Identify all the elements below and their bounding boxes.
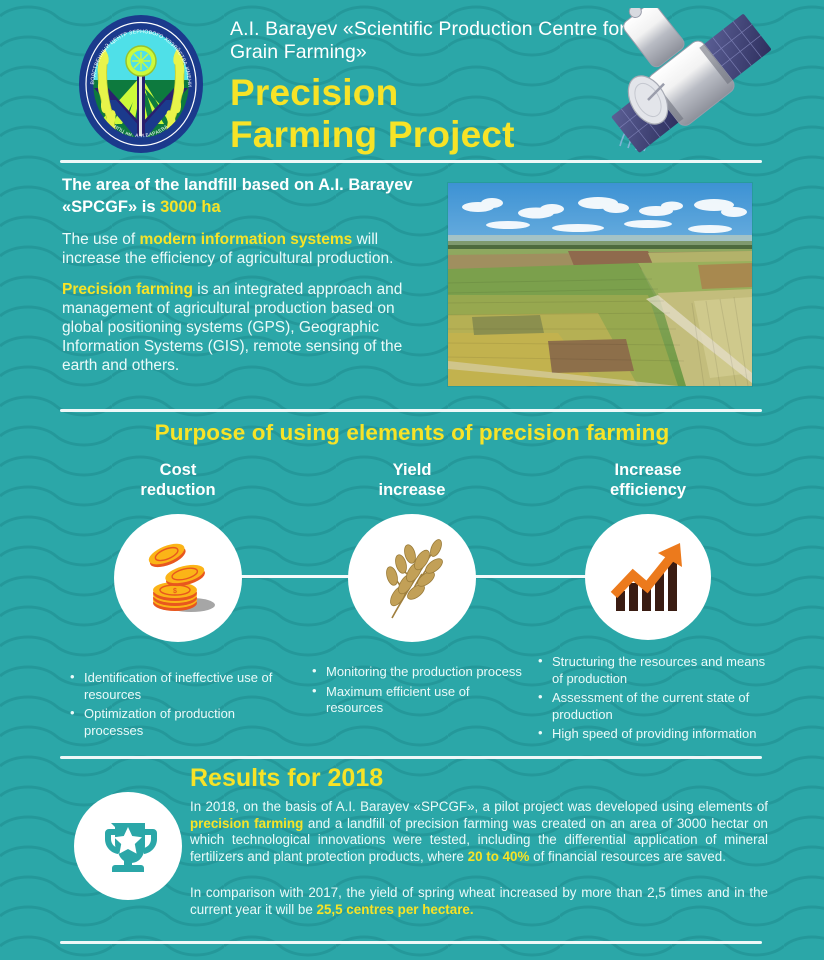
purpose-column-3-bullets: Structuring the resources and means of p… (536, 654, 766, 743)
purpose-column-2-heading-line2: increase (296, 480, 528, 500)
landfill-area-statement: The area of the landfill based on A.I. B… (62, 175, 432, 218)
purpose-column-1-circle: $ (114, 514, 242, 642)
intro-text-block: The area of the landfill based on A.I. B… (62, 175, 432, 375)
results-section-title: Results for 2018 (190, 764, 383, 793)
purpose-column-3-circle (585, 514, 711, 640)
list-item: Structuring the resources and means of p… (536, 654, 766, 687)
list-item: Monitoring the production process (310, 664, 528, 681)
results-p1-e: of financial resources are saved. (529, 849, 726, 864)
header: НАУЧНО-ПРОИЗВОДСТВЕННЫЙ ЦЕНТР ЗЕРНОВОГО … (0, 0, 824, 160)
divider-results (60, 756, 762, 759)
results-p1-a: In 2018, on the basis of A.I. Barayev «S… (190, 799, 768, 814)
intro-p2-highlight: Precision farming (62, 281, 193, 298)
list-item: Optimization of production processes (68, 706, 294, 739)
infographic-poster: НАУЧНО-ПРОИЗВОДСТВЕННЫЙ ЦЕНТР ЗЕРНОВОГО … (0, 0, 824, 960)
list-item: High speed of providing information (536, 726, 766, 743)
page-title-line2: Farming Project (230, 114, 650, 156)
purpose-section-title: Purpose of using elements of precision f… (0, 420, 824, 446)
purpose-column-3-heading: Increase efficiency (530, 460, 766, 500)
list-item: Assessment of the current state of produ… (536, 690, 766, 723)
results-p2-highlight: 25,5 centres per hectare. (317, 902, 474, 917)
results-paragraph-2: In comparison with 2017, the yield of sp… (190, 885, 768, 918)
gold-coins-icon: $ (135, 535, 221, 621)
landfill-area-value: 3000 ha (160, 198, 221, 216)
trophy-star-icon (95, 813, 161, 879)
landfill-area-text: The area of the landfill based on A.I. B… (62, 176, 413, 216)
farm-fields-photo (448, 183, 752, 386)
purpose-column-3-heading-line2: efficiency (530, 480, 766, 500)
purpose-column-1-heading-line2: reduction (62, 480, 294, 500)
results-p2-a: In comparison with 2017, the yield of sp… (190, 885, 768, 917)
purpose-column-cost-reduction: Cost reduction $ (62, 460, 294, 742)
intro-paragraph-1: The use of modern information systems wi… (62, 230, 432, 268)
purpose-column-2-circle-wrap (296, 514, 528, 642)
purpose-column-1-bullets: Identification of ineffective use of res… (68, 670, 294, 739)
spcgf-emblem-logo: НАУЧНО-ПРОИЗВОДСТВЕННЫЙ ЦЕНТР ЗЕРНОВОГО … (78, 14, 204, 154)
results-p1-highlight-1: precision farming (190, 816, 303, 831)
purpose-column-1-heading: Cost reduction (62, 460, 294, 500)
purpose-column-2-heading-line1: Yield (296, 460, 528, 480)
page-title-line1: Precision (230, 72, 650, 114)
organization-name: A.I. Barayev «Scientific Production Cent… (230, 18, 630, 64)
purpose-column-3-circle-wrap (530, 514, 766, 640)
results-p1-highlight-2: 20 to 40% (468, 849, 530, 864)
satellite-icon (604, 8, 780, 160)
divider-purpose (60, 409, 762, 412)
intro-p1-highlight: modern information systems (140, 231, 353, 248)
purpose-column-3-heading-line1: Increase (530, 460, 766, 480)
purpose-column-1-circle-wrap: $ (62, 514, 294, 642)
divider-header (60, 160, 762, 163)
results-paragraph-1: In 2018, on the basis of A.I. Barayev «S… (190, 799, 768, 865)
intro-paragraph-2: Precision farming is an integrated appro… (62, 280, 432, 375)
purpose-column-yield-increase: Yield increase (296, 460, 528, 720)
divider-footer (60, 941, 762, 944)
page-title: Precision Farming Project (230, 72, 650, 156)
list-item: Identification of ineffective use of res… (68, 670, 294, 703)
purpose-column-increase-efficiency: Increase efficiency Structu (530, 460, 766, 746)
trophy-circle (74, 792, 182, 900)
purpose-column-2-circle (348, 514, 476, 642)
wheat-ear-icon (370, 534, 454, 622)
growth-bar-chart-arrow-icon (606, 537, 690, 617)
list-item: Maximum efficient use of resources (310, 684, 528, 717)
intro-p1-pre: The use of (62, 231, 140, 248)
purpose-column-2-heading: Yield increase (296, 460, 528, 500)
svg-text:$: $ (173, 588, 177, 595)
purpose-column-2-bullets: Monitoring the production process Maximu… (310, 664, 528, 717)
purpose-column-1-heading-line1: Cost (62, 460, 294, 480)
